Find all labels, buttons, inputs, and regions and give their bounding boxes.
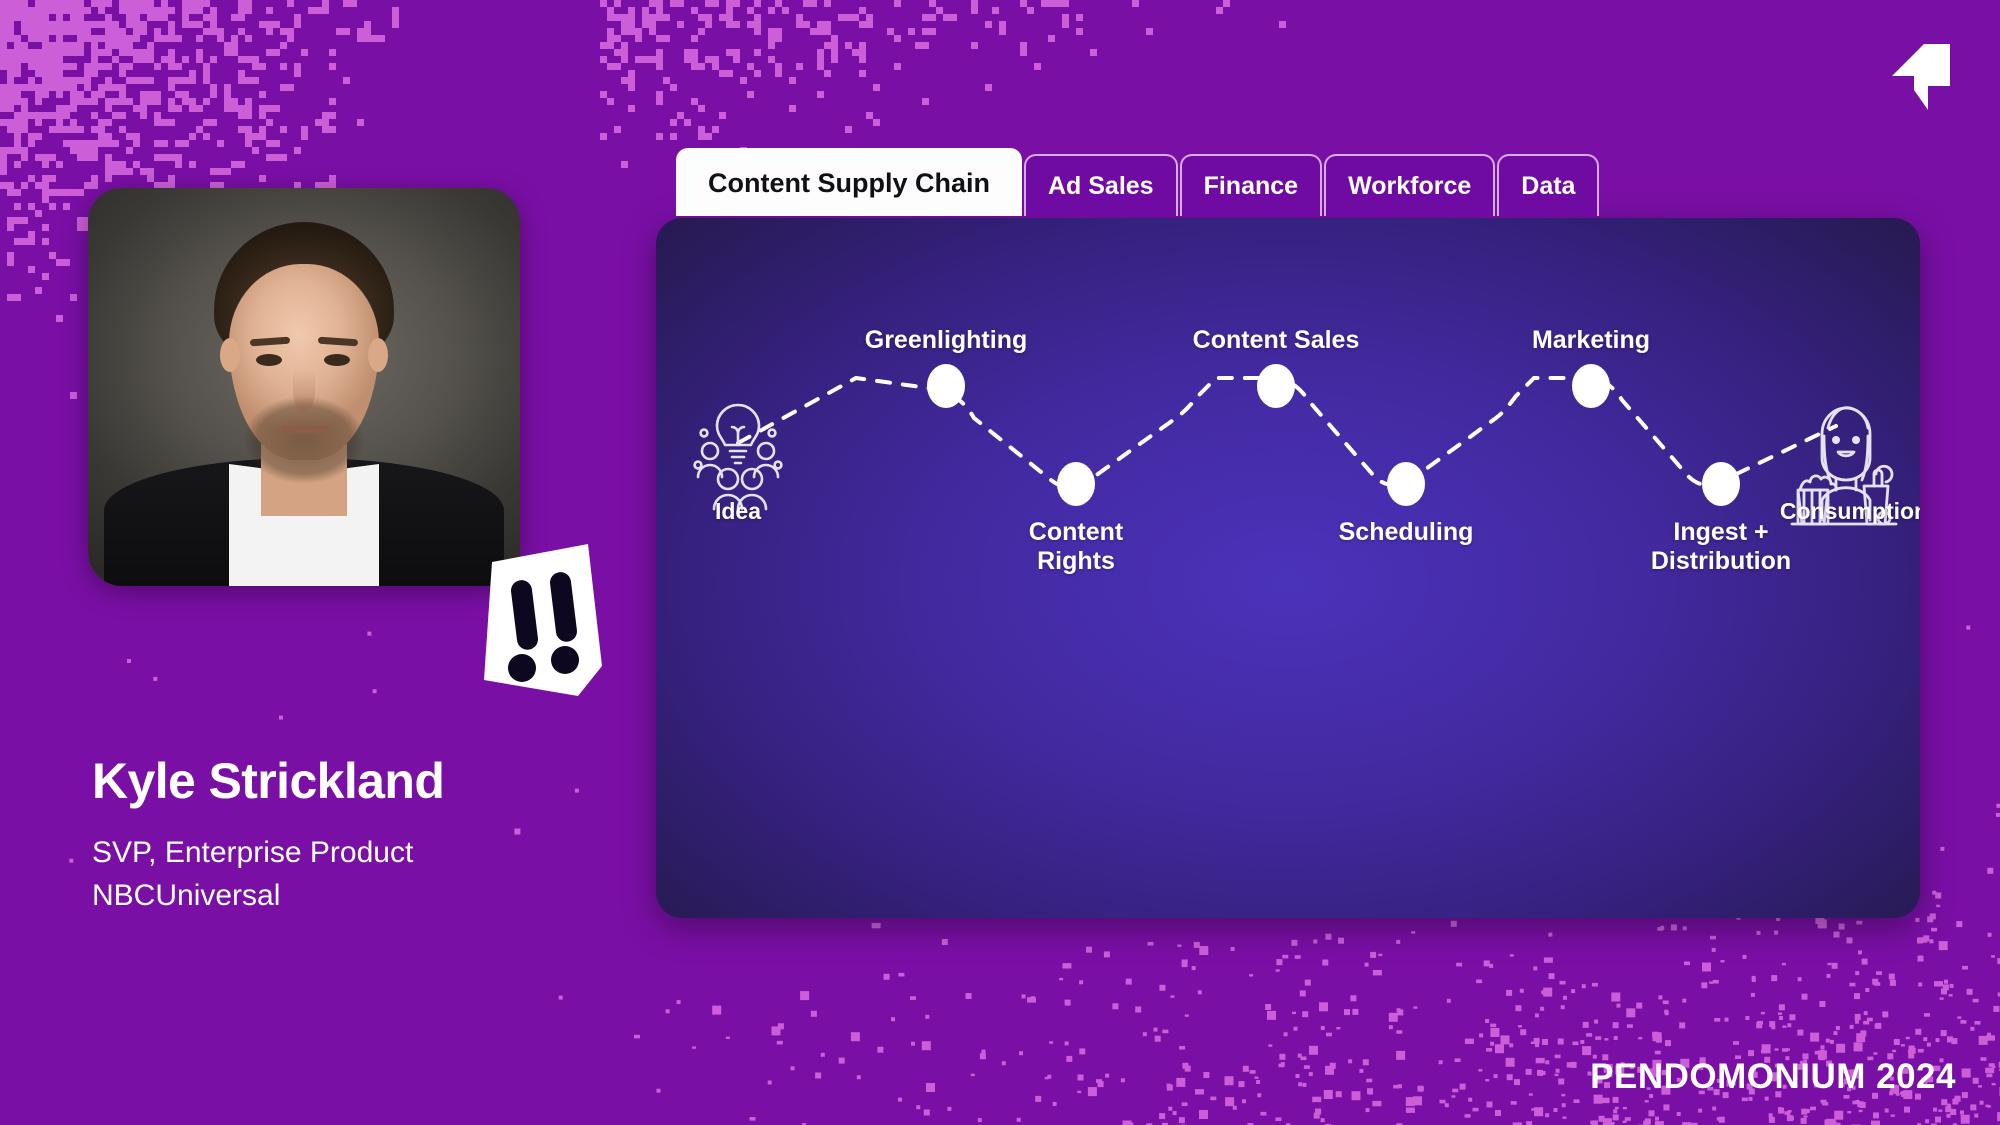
pendo-logo-icon [1888, 40, 1952, 112]
tab-workforce[interactable]: Workforce [1324, 154, 1495, 216]
event-branding: PENDOMONIUM 2024 [1590, 1057, 1956, 1097]
tab-ad-sales[interactable]: Ad Sales [1024, 154, 1178, 216]
node-content-sales [1257, 364, 1295, 408]
label-ingest-distribution: Ingest + Distribution [1651, 518, 1791, 575]
speaker-role: SVP, Enterprise Product NBCUniversal [92, 832, 413, 917]
tab-content-supply-chain[interactable]: Content Supply Chain [676, 148, 1022, 216]
speaker-role-line-1: SVP, Enterprise Product [92, 832, 413, 875]
node-content-rights [1057, 462, 1095, 506]
tab-data[interactable]: Data [1497, 154, 1599, 216]
idea-people-lightbulb-icon [695, 405, 782, 509]
tab-bar: Content Supply Chain Ad Sales Finance Wo… [676, 148, 1601, 216]
content-supply-chain-panel: Greenlighting Content Rights Content Sal… [656, 218, 1920, 918]
label-scheduling: Scheduling [1339, 518, 1474, 547]
label-idea: Idea [715, 498, 761, 525]
double-exclamation-sticker [470, 540, 610, 700]
label-content-sales: Content Sales [1193, 326, 1360, 355]
node-marketing [1572, 364, 1610, 408]
label-consumption: Consumption [1780, 498, 1920, 525]
speaker-name: Kyle Strickland [92, 752, 444, 810]
speaker-portrait-illustration [88, 188, 520, 586]
label-marketing: Marketing [1532, 326, 1650, 355]
label-greenlighting: Greenlighting [865, 326, 1028, 355]
label-content-rights: Content Rights [1029, 518, 1123, 575]
tab-finance[interactable]: Finance [1180, 154, 1322, 216]
node-ingest-distribution [1702, 462, 1740, 506]
node-scheduling [1387, 462, 1425, 506]
node-greenlighting [927, 364, 965, 408]
speaker-photo [88, 188, 520, 586]
speaker-role-line-2: NBCUniversal [92, 875, 413, 918]
